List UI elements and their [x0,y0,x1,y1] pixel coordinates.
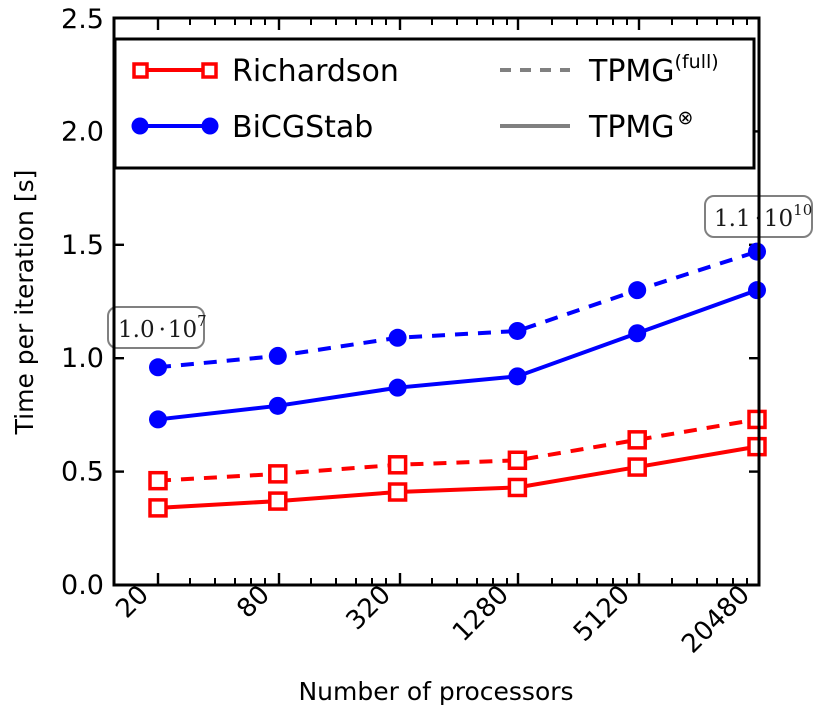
data-point-square [270,466,286,482]
data-point-square [390,457,406,473]
y-tick-label-2: 1.0 [61,343,104,374]
legend-marker-square-open-right [203,64,216,77]
y-tick-label-3: 1.5 [61,230,104,261]
x-tick-label-5: 20480 [676,580,756,660]
data-point-square [150,500,166,516]
x-axis-title: Number of processors [298,677,573,706]
data-point-circle [508,367,526,385]
data-point-square [629,432,645,448]
data-point-circle [149,358,167,376]
line-chart: 0.0 0.5 1.0 1.5 2.0 2.5 [0,0,830,724]
y-tick-label-1: 0.5 [61,457,104,488]
data-point-circle [389,379,407,397]
y-tick-label-5: 2.5 [61,4,104,35]
x-tick-label-4: 5120 [568,580,636,648]
data-point-square [749,411,765,427]
data-point-square [150,473,166,489]
data-point-circle [389,329,407,347]
data-point-circle [748,281,766,299]
data-point-square [390,484,406,500]
y-axis-title: Time per iteration [s] [10,170,39,436]
data-point-circle [628,324,646,342]
legend: Richardson BiCGStab TPMG(full) TPM [115,39,754,168]
data-point-square [509,452,525,468]
legend-label-bicgstab: BiCGStab [232,110,373,145]
y-tick-label-4: 2.0 [61,116,104,147]
data-point-circle [628,281,646,299]
legend-marker-circle-filled-left [132,118,149,135]
x-tick-label-2: 320 [341,580,397,636]
data-point-square [509,479,525,495]
data-point-circle [269,347,287,365]
data-point-circle [149,410,167,428]
left-annotation-label: 1.0·107 [118,312,207,343]
data-point-circle [748,243,766,261]
legend-marker-square-open-left [134,64,147,77]
x-tick-labels: 20 80 320 1280 5120 20480 [110,580,756,660]
legend-marker-circle-filled-right [202,118,219,135]
data-point-square [270,493,286,509]
y-tick-label-0: 0.0 [61,570,104,601]
left-annotation: 1.0·107 [108,307,207,348]
y-tick-labels: 0.0 0.5 1.0 1.5 2.0 2.5 [61,4,104,601]
data-point-circle [269,397,287,415]
data-point-circle [508,322,526,340]
chart-figure: 0.0 0.5 1.0 1.5 2.0 2.5 [0,0,830,724]
data-point-square [749,439,765,455]
legend-label-richardson: Richardson [232,54,399,89]
data-point-square [629,459,645,475]
x-tick-label-3: 1280 [447,580,515,648]
